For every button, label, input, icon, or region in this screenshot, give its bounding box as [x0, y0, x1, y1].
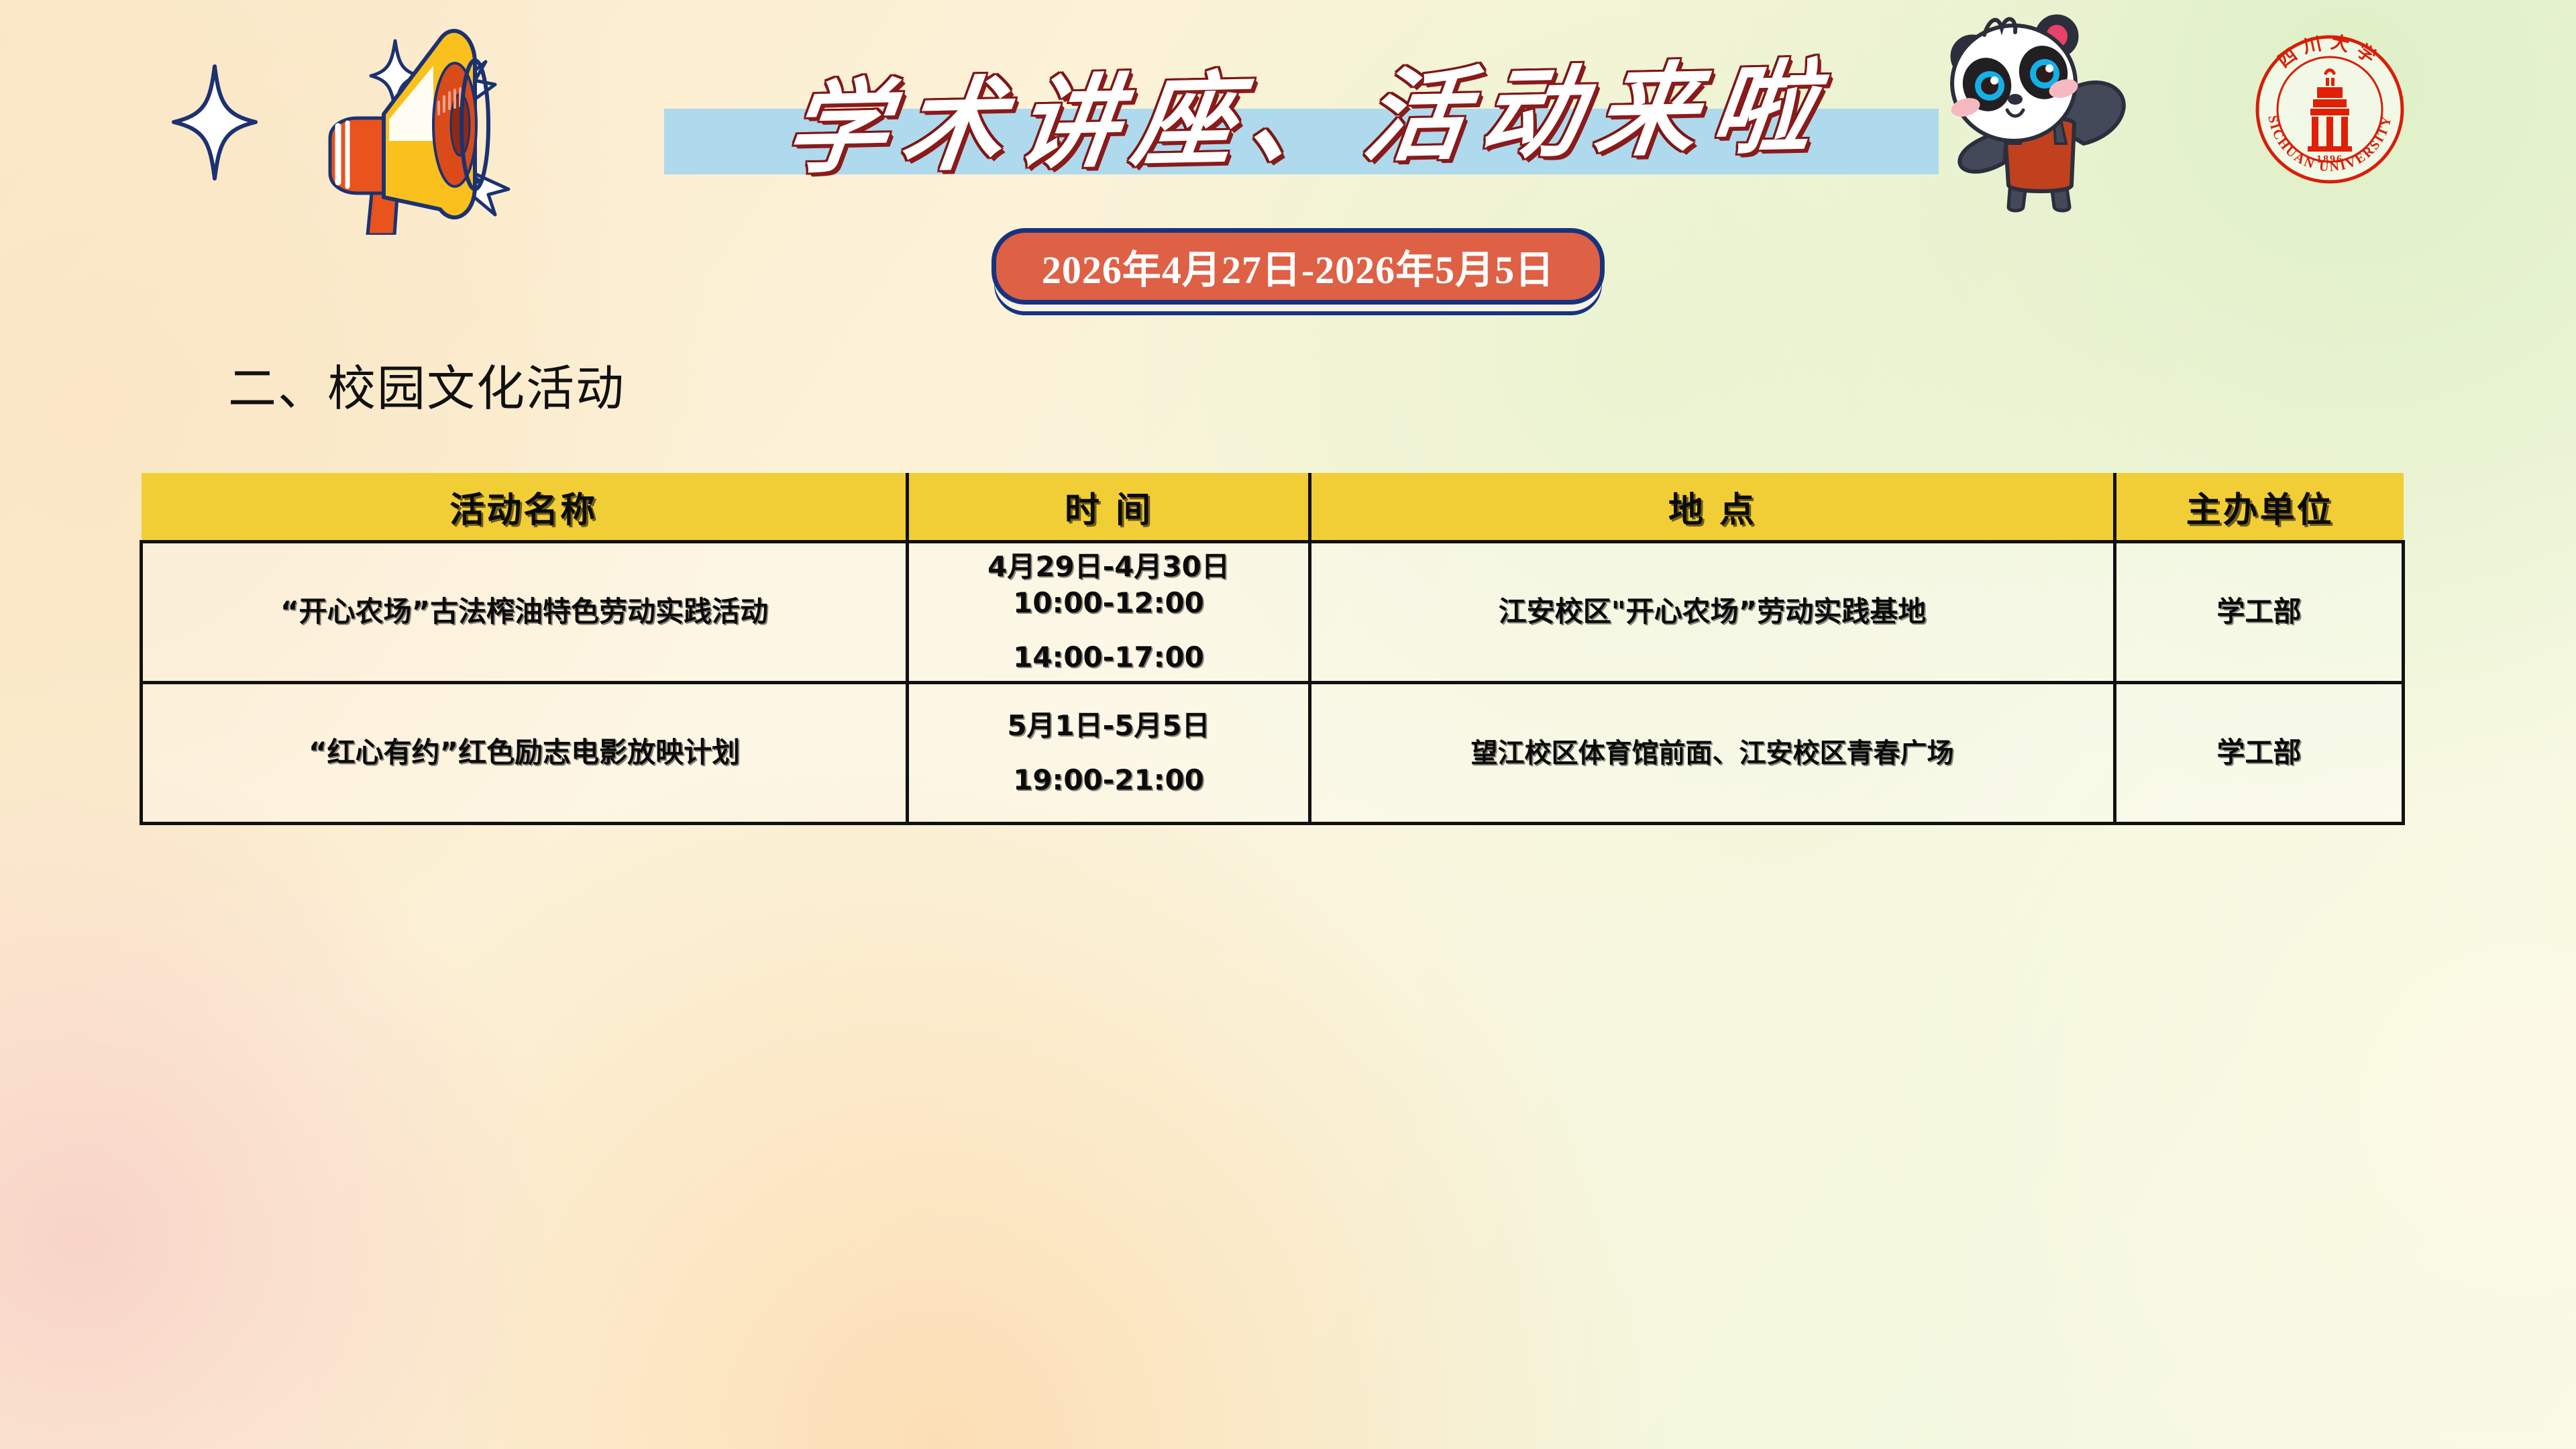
header-label: 活动名称	[449, 490, 597, 531]
cell-organizer: 学工部	[2115, 683, 2404, 824]
header-label: 主办单位	[2186, 490, 2334, 531]
table-row: “红心有约”红色励志电影放映计划 5月1日-5月5日 19:00-21:00 望…	[142, 683, 2404, 824]
time-line: 10:00-12:00	[918, 585, 1299, 622]
megaphone-icon	[315, 13, 604, 235]
cell-activity-name: “红心有约”红色励志电影放映计划	[142, 683, 908, 824]
time-text: 5月1日-5月5日 19:00-21:00	[918, 708, 1299, 798]
header-label: 地 点	[1668, 490, 1756, 531]
panda-mascot-icon	[1932, 5, 2147, 213]
sichuan-university-logo: 四川大学 SICHUAN UNIVERSITY 1896	[2246, 25, 2414, 193]
date-range-badge: 2026年4月27日-2026年5月5日	[991, 228, 1605, 305]
poster-header: 学术讲座、活动来啦	[0, 0, 2576, 315]
cell-place: 望江校区体育馆前面、江安校区青春广场	[1310, 683, 2115, 824]
cell-activity-name: “开心农场”古法榨油特色劳动实践活动	[142, 542, 908, 683]
column-header-time: 时 间	[908, 473, 1310, 542]
activity-name-text: “开心农场”古法榨油特色劳动实践活动	[280, 595, 768, 628]
cell-organizer: 学工部	[2115, 542, 2404, 683]
cell-time: 4月29日-4月30日 10:00-12:00 14:00-17:00	[908, 542, 1310, 683]
date-range-text: 2026年4月27日-2026年5月5日	[1042, 238, 1554, 294]
activities-table-wrapper: 活动名称 时 间 地 点 主办单位 “开心农场”古法榨油特色劳动实践活动	[140, 473, 2402, 825]
sparkle-icon	[171, 64, 258, 181]
organizer-text: 学工部	[2216, 736, 2301, 769]
header-label: 时 间	[1065, 490, 1152, 531]
organizer-text: 学工部	[2216, 595, 2301, 628]
place-text: 望江校区体育馆前面、江安校区青春广场	[1471, 738, 1954, 769]
svg-text:1896: 1896	[2316, 154, 2343, 165]
column-header-place: 地 点	[1310, 473, 2115, 542]
place-text: 江安校区"开心农场”劳动实践基地	[1499, 595, 1927, 628]
time-line: 19:00-21:00	[918, 762, 1299, 799]
time-line: 5月1日-5月5日	[918, 708, 1299, 745]
time-line: 4月29日-4月30日	[918, 549, 1299, 586]
column-header-activity-name: 活动名称	[142, 473, 908, 542]
activity-name-text: “红心有约”红色励志电影放映计划	[309, 736, 740, 769]
cell-place: 江安校区"开心农场”劳动实践基地	[1310, 542, 2115, 683]
table-header-row: 活动名称 时 间 地 点 主办单位	[142, 473, 2404, 542]
table-row: “开心农场”古法榨油特色劳动实践活动 4月29日-4月30日 10:00-12:…	[142, 542, 2404, 683]
time-text: 4月29日-4月30日 10:00-12:00 14:00-17:00	[918, 549, 1299, 676]
cell-time: 5月1日-5月5日 19:00-21:00	[908, 683, 1310, 824]
page-title: 学术讲座、活动来啦	[659, 12, 1957, 207]
time-line: 14:00-17:00	[918, 639, 1299, 676]
section-heading: 二、校园文化活动	[228, 349, 625, 419]
column-header-organizer: 主办单位	[2115, 473, 2404, 542]
activities-table: 活动名称 时 间 地 点 主办单位 “开心农场”古法榨油特色劳动实践活动	[140, 473, 2405, 825]
